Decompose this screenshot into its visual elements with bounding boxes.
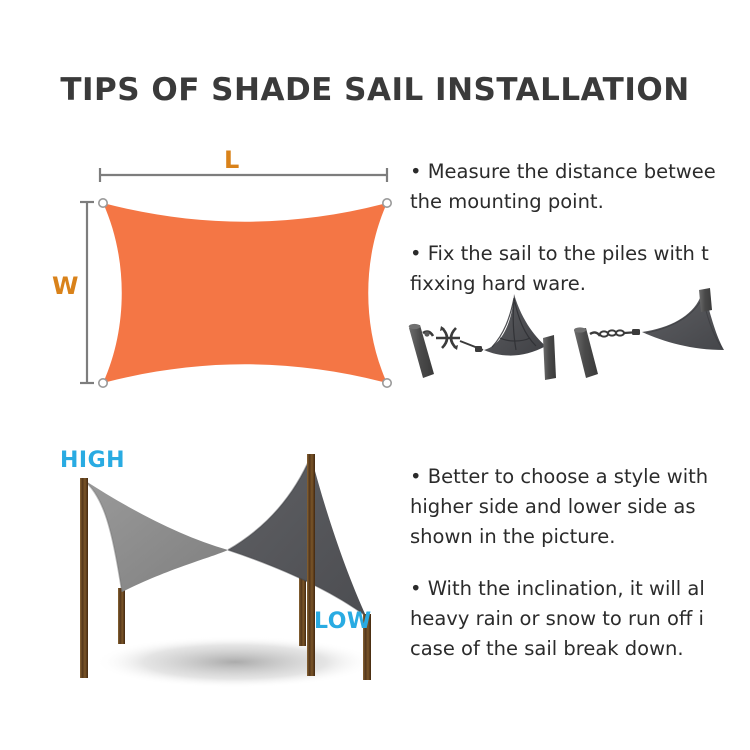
rectangular-shade-sail-diagram — [60, 150, 400, 400]
post-front-right — [307, 454, 315, 676]
sail-body — [103, 203, 387, 383]
post-back-right — [299, 573, 306, 646]
tip-line: fixxing hard ware. — [410, 269, 750, 299]
mounting-post — [574, 327, 598, 378]
width-dimension-line — [80, 202, 94, 383]
tip-line: shown in the picture. — [410, 522, 750, 552]
shackle-hook — [423, 331, 433, 336]
tip-line: heavy rain or snow to run off i — [410, 604, 750, 634]
tip-line: • Fix the sail to the piles with t — [410, 239, 750, 269]
hardware-illustration-turnbuckle — [404, 288, 584, 388]
ground-shadow — [95, 636, 375, 688]
sail-seam-lines — [492, 298, 536, 350]
sail-edge-highlights — [84, 456, 366, 616]
tip-item: • With the inclination, it will al heavy… — [410, 574, 750, 664]
mounting-post — [409, 324, 434, 378]
width-label: W — [52, 272, 78, 300]
far-mounting-post — [543, 335, 556, 380]
tip-line: • With the inclination, it will al — [410, 574, 750, 604]
chain-links — [590, 329, 640, 337]
sail-corner-panel — [642, 298, 724, 350]
length-label: L — [224, 146, 239, 174]
sail-corner-panel — [484, 294, 546, 356]
sail-panel-light — [84, 480, 228, 592]
tip-line: the mounting point. — [410, 187, 750, 217]
post-front-left-high — [80, 478, 88, 678]
tip-line: • Better to choose a style with — [410, 462, 750, 492]
tip-line: higher side and lower side as — [410, 492, 750, 522]
tips-list-bottom: • Better to choose a style with higher s… — [410, 462, 750, 664]
infographic-page: TIPS OF SHADE SAIL INSTALLATION L W — [0, 0, 750, 750]
page-title: TIPS OF SHADE SAIL INSTALLATION — [0, 72, 750, 108]
hardware-illustration-chain — [566, 288, 750, 388]
tip-item: • Measure the distance betwee the mounti… — [410, 157, 750, 217]
sail-grommets — [99, 199, 391, 387]
tip-line: case of the sail break down. — [410, 634, 750, 664]
tip-item: • Better to choose a style with higher s… — [410, 462, 750, 552]
length-dimension-line — [100, 168, 387, 182]
hypar-canopy-diagram — [30, 440, 410, 700]
high-label: HIGH — [60, 448, 125, 473]
low-label: LOW — [314, 609, 372, 634]
post-back-left — [118, 588, 125, 644]
turnbuckle — [436, 326, 460, 350]
tip-item: • Fix the sail to the piles with t fixxi… — [410, 239, 750, 299]
sail-panel-dark — [228, 456, 366, 616]
connecting-cable — [460, 341, 483, 352]
tip-line: • Measure the distance betwee — [410, 157, 750, 187]
sail-seam-lines — [646, 302, 722, 348]
tips-list-top: • Measure the distance betwee the mounti… — [410, 157, 750, 299]
